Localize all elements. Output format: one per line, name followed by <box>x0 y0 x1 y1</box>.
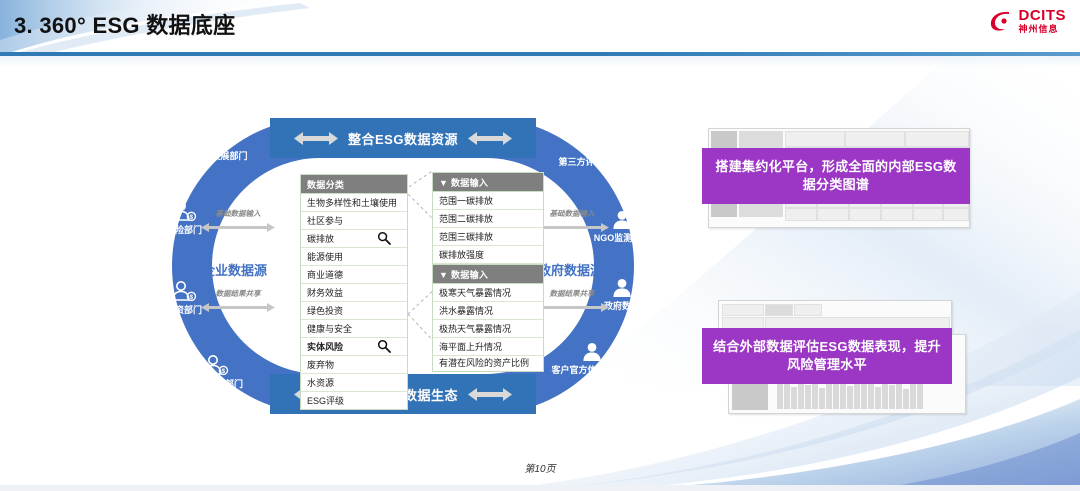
callout-internal-esg-taxonomy: 搭建集约化平台，形成全面的内部ESG数据分类图谱 <box>702 128 970 236</box>
flow-label-input: 基础数据输入 <box>190 208 286 219</box>
double-arrow-right-icon <box>468 131 512 146</box>
node-sustainability-dept[interactable]: $ 可持续发展部门 <box>180 126 252 162</box>
table-row[interactable]: 范围二碳排放 <box>433 210 543 228</box>
logo-text-cn: 神州信息 <box>1019 25 1067 34</box>
table-row[interactable]: 商业道德 <box>301 266 407 284</box>
node-label: 客户官方信息披露及估测 <box>551 365 632 385</box>
gray-double-arrow-icon-4 <box>535 300 609 311</box>
table-row[interactable]: 绿色投资 <box>301 302 407 320</box>
table-data-classification: 数据分类 生物多样性和土壤使用 社区参与 碳排放 能源使用 商业道德 财务效益 … <box>300 174 408 410</box>
page-title: 3. 360° ESG 数据底座 <box>14 8 235 40</box>
table-row[interactable]: 极热天气暴露情况 <box>433 320 543 338</box>
table-row-label: 实体风险 <box>307 342 343 352</box>
table-row[interactable]: 范围三碳排放 <box>433 228 543 246</box>
table-row[interactable]: 生物多样性和土壤使用 <box>301 194 407 212</box>
table-row[interactable]: 社区参与 <box>301 212 407 230</box>
table-row[interactable]: 能源使用 <box>301 248 407 266</box>
table-row[interactable]: 有潜在风险的资产比例 <box>433 356 543 371</box>
node-label: 公共事务部门 <box>189 379 243 389</box>
node-public-affairs-dept[interactable]: $ 公共事务部门 <box>180 354 252 390</box>
flow-left-input: 基础数据输入 <box>190 208 286 231</box>
person-icon <box>554 134 626 156</box>
brand-logo: DCITS 神州信息 <box>988 8 1067 34</box>
magnifier-icon[interactable] <box>377 339 391 355</box>
node-third-party-rating[interactable]: 第三方评级机构 <box>554 134 626 168</box>
callout-banner-2: 结合外部数据评估ESG数据表现，提升风险管理水平 <box>702 328 952 384</box>
table-row[interactable]: 废弃物 <box>301 356 407 374</box>
node-label: 可持续发展部门 <box>184 151 247 161</box>
table-row[interactable]: 范围一碳排放 <box>433 192 543 210</box>
right-source-label: 政府数据源 <box>538 260 603 279</box>
table-header-cell[interactable]: ▼ 数据输入 <box>433 173 543 192</box>
top-flow-bar-label: 整合ESG数据资源 <box>348 129 458 148</box>
page-number: 第10页 <box>0 460 1080 475</box>
dcits-logo-icon <box>988 8 1014 34</box>
gray-double-arrow-icon <box>201 220 275 231</box>
left-source-label: 企业数据源 <box>202 260 267 279</box>
esg-data-diagram: 整合ESG数据资源 形成ESG数据生态 $ <box>168 112 638 420</box>
table-header-cell[interactable]: ▼ 数据输入 <box>433 265 543 284</box>
gray-double-arrow-icon-3 <box>535 220 609 231</box>
table-row[interactable]: 极寒天气暴露情况 <box>433 284 543 302</box>
footer-divider <box>0 485 1080 491</box>
table-row[interactable]: ESG评级 <box>301 392 407 409</box>
person-money-icon: $ <box>180 354 252 378</box>
person-money-icon: $ <box>180 126 252 150</box>
callout-banner-1: 搭建集约化平台，形成全面的内部ESG数据分类图谱 <box>702 148 970 204</box>
table-row[interactable]: 健康与安全 <box>301 320 407 338</box>
table-row[interactable]: 洪水暴露情况 <box>433 302 543 320</box>
table-row[interactable]: 海平面上升情况 <box>433 338 543 356</box>
callout-external-risk-management: 结合外部数据评估ESG数据表现，提升风险管理水平 <box>702 300 970 416</box>
node-label: NGO监测数据 <box>594 233 651 243</box>
node-label: 第三方评级机构 <box>558 157 621 167</box>
table-row[interactable]: 水资源 <box>301 374 407 392</box>
double-arrow-left-icon <box>294 131 338 146</box>
table-header-cell: 数据分类 <box>301 175 407 194</box>
table-data-input-physical-risk: ▼ 数据输入 极寒天气暴露情况 洪水暴露情况 极热天气暴露情况 海平面上升情况 … <box>432 264 544 372</box>
table-row[interactable]: 碳排放 <box>301 230 407 248</box>
header-divider-shadow <box>0 56 1080 68</box>
flow-left-share: 数据结果共享 <box>190 288 286 311</box>
flow-label-share: 数据结果共享 <box>190 288 286 299</box>
table-row[interactable]: 财务效益 <box>301 284 407 302</box>
logo-text-en: DCITS <box>1019 8 1067 23</box>
table-row[interactable]: 实体风险 <box>301 338 407 356</box>
table-row[interactable]: 碳排放强度 <box>433 246 543 264</box>
gray-double-arrow-icon-2 <box>201 300 275 311</box>
magnifier-icon[interactable] <box>377 231 391 247</box>
node-client-disclosure[interactable]: 客户官方信息披露及估测 <box>550 342 634 386</box>
table-row-label: 碳排放 <box>307 234 334 244</box>
top-flow-bar: 整合ESG数据资源 <box>270 118 536 158</box>
person-icon <box>550 342 634 364</box>
double-arrow-right-icon-2 <box>468 387 512 402</box>
